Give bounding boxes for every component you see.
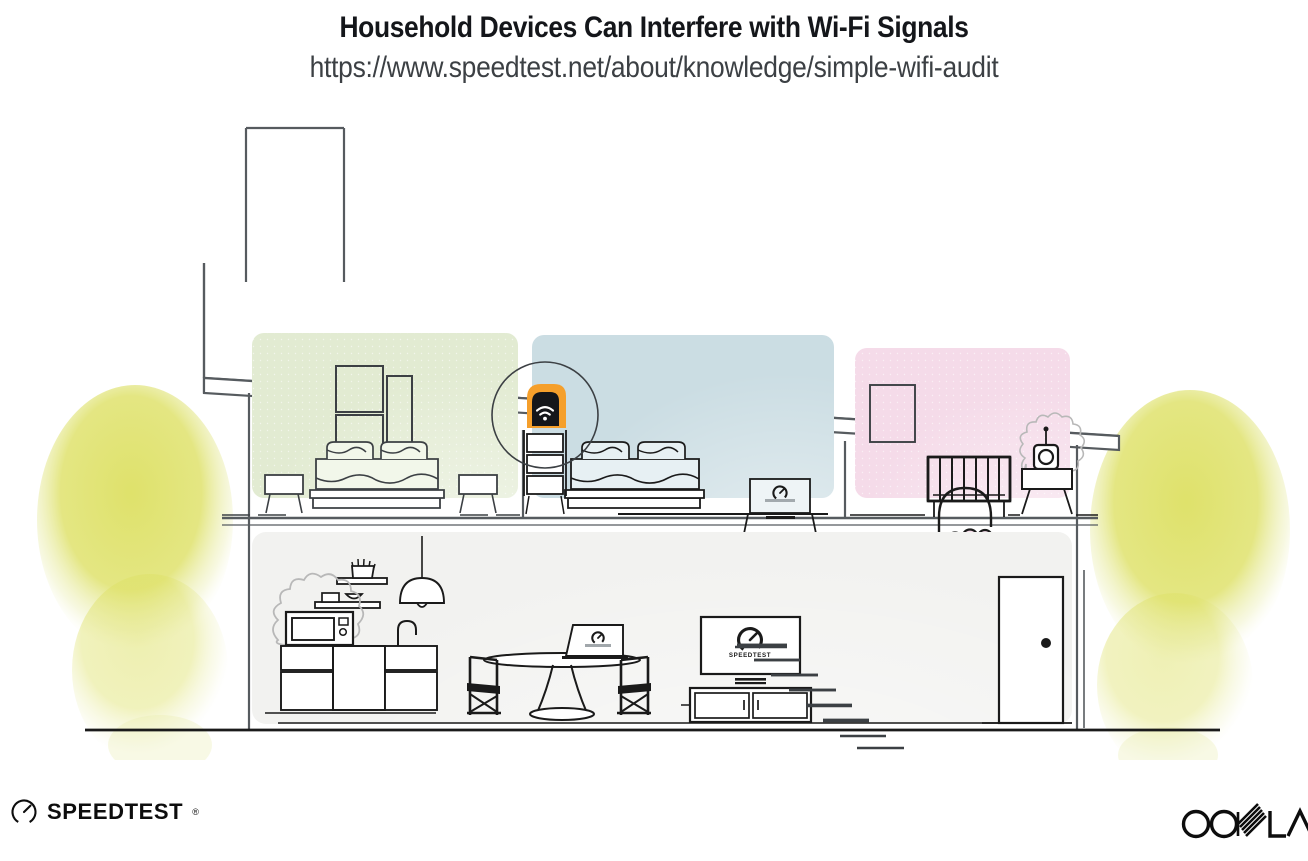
speedtest-wordmark: SPEEDTEST — [47, 799, 183, 825]
tree-foliage-left — [37, 385, 233, 760]
kitchen-counter — [281, 646, 437, 710]
header: Household Devices Can Interfere with Wi-… — [0, 0, 1308, 85]
room-living-kitchen-gray: SPEEDTEST — [240, 510, 1080, 760]
house-illustration: SPEEDTEST — [0, 100, 1308, 760]
illustration-page: Household Devices Can Interfere with Wi-… — [0, 0, 1308, 861]
wifi-router[interactable] — [527, 384, 566, 428]
media-console — [690, 688, 811, 722]
nightstand-left — [265, 475, 303, 513]
page-url: https://www.speedtest.net/about/knowledg… — [78, 45, 1229, 85]
speedtest-trademark: ® — [192, 807, 199, 817]
microwave[interactable] — [286, 612, 353, 645]
shelf-unit — [524, 430, 566, 514]
page-title: Household Devices Can Interfere with Wi-… — [78, 0, 1229, 45]
laptop[interactable] — [562, 625, 628, 659]
door-knob-icon[interactable] — [1041, 638, 1051, 648]
speedtest-gauge-icon — [10, 798, 38, 826]
chimney — [246, 128, 344, 282]
ookla-logo: ® — [1174, 802, 1308, 849]
nightstand-right — [459, 475, 497, 513]
speedtest-brand: SPEEDTEST ® — [10, 798, 199, 826]
footer: SPEEDTEST ® ® — [0, 780, 1308, 861]
monitor[interactable] — [750, 479, 810, 519]
front-door-panel[interactable] — [999, 577, 1063, 723]
tv-screen-logo-text: SPEEDTEST — [729, 652, 771, 659]
